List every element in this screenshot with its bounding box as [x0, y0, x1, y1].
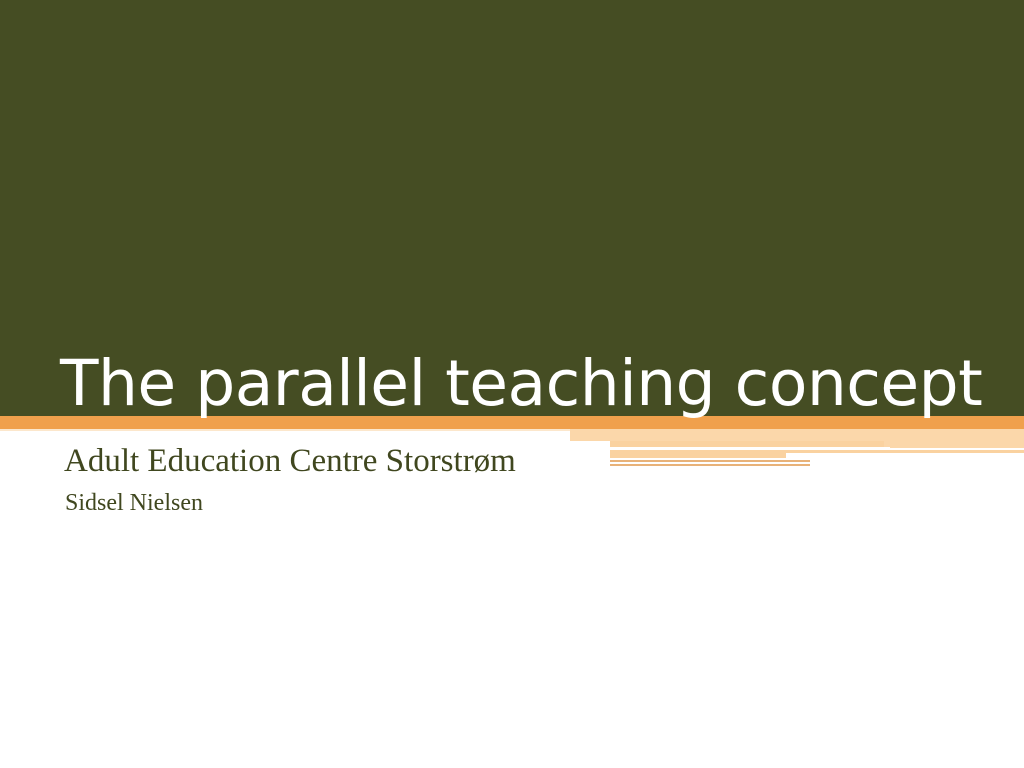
decorative-rule-4	[610, 460, 810, 462]
title-slide: The parallel teaching concept Adult Educ…	[0, 0, 1024, 768]
slide-title: The parallel teaching concept	[60, 348, 980, 420]
slide-subtitle: Adult Education Centre Storstrøm	[64, 441, 516, 481]
decorative-line-1b	[884, 441, 1024, 448]
slide-author: Sidsel Nielsen	[65, 488, 203, 518]
decorative-line-7	[610, 466, 1024, 470]
decorative-rule-5	[610, 464, 810, 466]
